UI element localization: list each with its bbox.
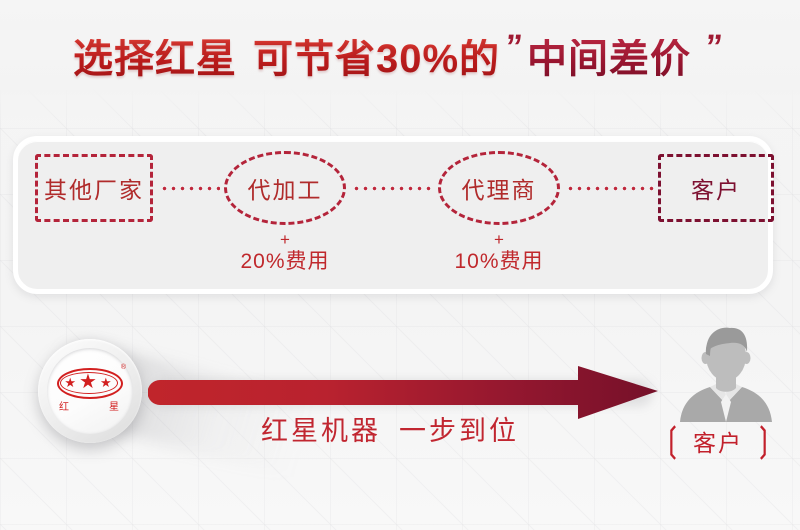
registered-trademark-icon: ® xyxy=(121,364,126,371)
fee-plus-sign: + xyxy=(419,232,579,247)
headline: 选择红星 可节省30%的 ” 中间差价 ” xyxy=(0,28,800,90)
customer-tag: ❲ 客户 ❳ xyxy=(648,423,788,459)
tagline-claim: 一步到位 xyxy=(399,409,519,448)
chain-node-customer: 客户 xyxy=(658,154,774,222)
logo-char-hong: 红 xyxy=(59,398,69,413)
fee-plus-sign: + xyxy=(205,232,365,247)
logo-stars-icon: ★ ★ ★ xyxy=(60,372,116,392)
quote-close-mark: ” xyxy=(689,28,729,67)
headline-emphasis: 中间差价 xyxy=(527,39,691,79)
chain-node-label: 客户 xyxy=(691,171,741,205)
chain-node-label: 其他厂家 xyxy=(44,171,144,205)
hongxing-logo-badge: ★ ★ ★ ® 红 星 xyxy=(38,339,142,443)
logo-inner-disc: ★ ★ ★ ® 红 星 xyxy=(47,348,133,434)
logo-mark: ★ ★ ★ ® 红 星 xyxy=(54,362,126,420)
tagline-brand: 红星机器 xyxy=(261,409,381,448)
bracket-left-icon: ❲ xyxy=(660,424,685,459)
chain-fee-oem: + 20%费用 xyxy=(205,232,365,277)
chain-node-label: 代加工 xyxy=(248,171,323,205)
chain-node-label: 代理商 xyxy=(462,171,537,205)
chain-connector-dots-1 xyxy=(160,186,220,191)
fee-amount: 10%费用 xyxy=(419,247,579,277)
headline-part1: 选择红星 xyxy=(73,39,237,79)
logo-char-xing: 星 xyxy=(109,398,119,413)
star-icon-center: ★ xyxy=(79,372,97,392)
chain-connector-dots-2 xyxy=(352,186,434,191)
bracket-right-icon: ❳ xyxy=(751,424,776,459)
promo-banner: 选择红星 可节省30%的 ” 中间差价 ” 其他厂家 代加工 + 20%费用 代… xyxy=(0,0,800,530)
headline-part2: 可节省30%的 xyxy=(253,39,500,79)
customer-tag-label: 客户 xyxy=(693,424,743,458)
fee-amount: 20%费用 xyxy=(205,247,365,277)
chain-fee-agent: + 10%费用 xyxy=(419,232,579,277)
tagline: 红星机器 一步到位 xyxy=(190,408,590,448)
chain-connector-dots-3 xyxy=(566,186,654,191)
star-icon-right: ★ xyxy=(100,376,112,389)
customer-avatar-icon xyxy=(672,318,780,426)
chain-node-other-manufacturer: 其他厂家 xyxy=(35,154,153,222)
chain-node-agent: 代理商 xyxy=(438,151,560,225)
chain-node-oem-processing: 代加工 xyxy=(224,151,346,225)
star-icon-left: ★ xyxy=(64,376,76,389)
quote-open-mark: ” xyxy=(498,28,529,67)
logo-chinese-name: 红 星 xyxy=(59,398,119,413)
